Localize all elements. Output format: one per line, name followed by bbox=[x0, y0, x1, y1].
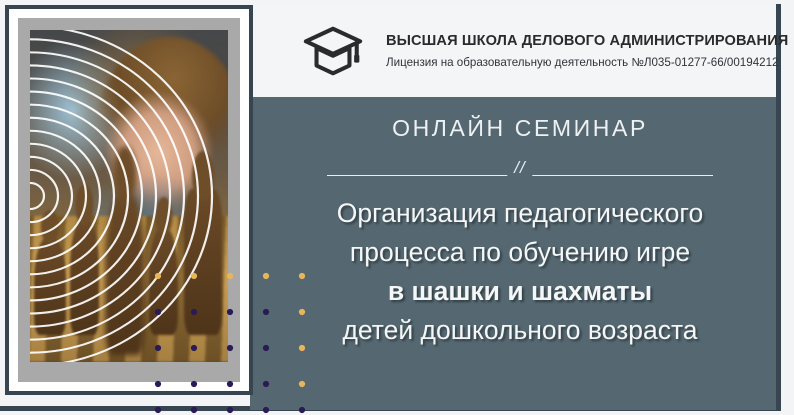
chess-piece bbox=[70, 216, 100, 336]
seminar-poster: ОНЛАЙН СЕМИНАР // Организация педагогиче… bbox=[0, 0, 794, 415]
title-line-2: процесса по обучению игре bbox=[290, 235, 750, 270]
photo-mount bbox=[9, 9, 249, 391]
divider-slash-ornament: // bbox=[507, 159, 532, 176]
main-panel-content: ОНЛАЙН СЕМИНАР // Организация педагогиче… bbox=[290, 117, 750, 348]
photo-frame bbox=[5, 5, 253, 395]
branding-header: ВЫСШАЯ ШКОЛА ДЕЛОВОГО АДМИНИСТРИРОВАНИЯ … bbox=[254, 5, 776, 97]
photo-mat bbox=[18, 18, 240, 382]
organization-name: ВЫСШАЯ ШКОЛА ДЕЛОВОГО АДМИНИСТРИРОВАНИЯ bbox=[386, 33, 788, 49]
title-line-3: в шашки и шахматы bbox=[290, 274, 750, 309]
chess-piece bbox=[184, 189, 222, 335]
title-line-1: Организация педагогического bbox=[290, 196, 750, 231]
chess-piece bbox=[105, 189, 145, 355]
graduation-cap-icon bbox=[302, 23, 364, 79]
title-divider: // bbox=[290, 160, 750, 182]
chess-piece bbox=[149, 226, 179, 336]
seminar-eyebrow-label: ОНЛАЙН СЕМИНАР bbox=[290, 117, 750, 140]
license-number: Лицензия на образовательную деятельность… bbox=[386, 56, 788, 69]
branding-text: ВЫСШАЯ ШКОЛА ДЕЛОВОГО АДМИНИСТРИРОВАНИЯ … bbox=[386, 33, 788, 69]
seminar-title: Организация педагогического процесса по … bbox=[290, 196, 750, 348]
chess-photo bbox=[30, 30, 228, 362]
main-panel: ОНЛАЙН СЕМИНАР // Организация педагогиче… bbox=[250, 97, 776, 410]
chess-piece bbox=[34, 236, 66, 336]
title-line-4: детей дошкольного возраста bbox=[290, 313, 750, 348]
